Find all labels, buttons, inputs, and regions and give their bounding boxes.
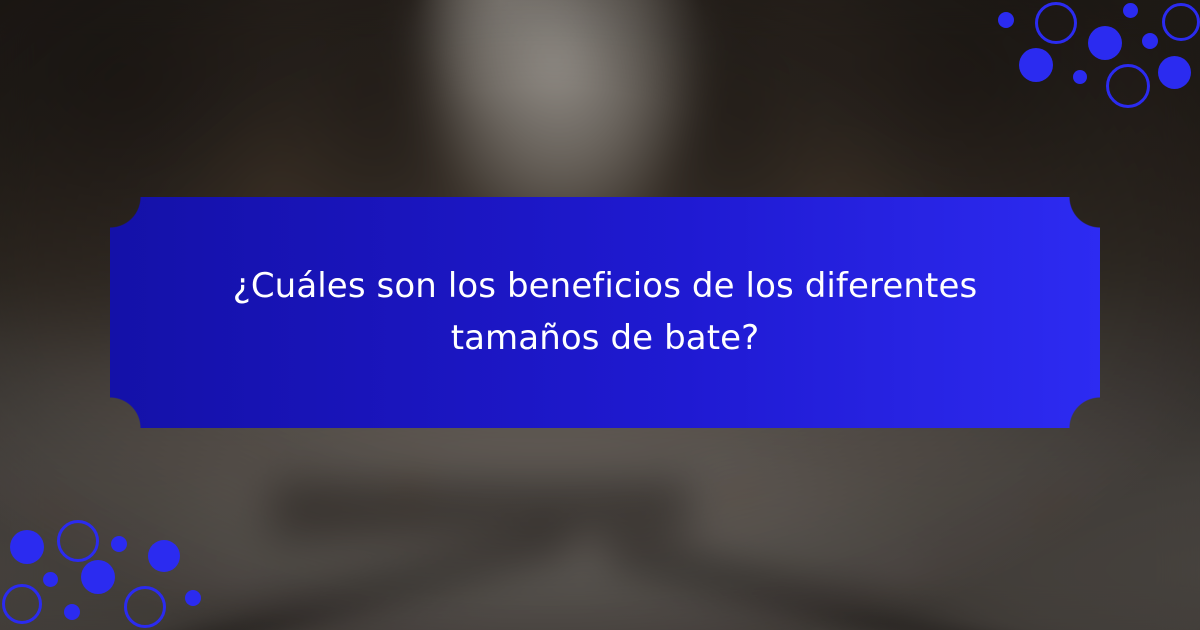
- banner-title: ¿Cuáles son los beneficios de los difere…: [110, 261, 1100, 364]
- decoration-circle-filled: [1142, 33, 1158, 49]
- decoration-circle-filled: [10, 530, 44, 564]
- headline-banner: ¿Cuáles son los beneficios de los difere…: [110, 197, 1100, 428]
- decoration-circle-filled: [1123, 3, 1138, 18]
- decoration-circle-outline: [124, 586, 166, 628]
- decoration-circle-filled: [1073, 70, 1087, 84]
- decoration-circle-filled: [1088, 26, 1122, 60]
- decoration-circle-filled: [64, 604, 80, 620]
- decoration-circle-outline: [57, 520, 99, 562]
- decoration-circle-filled: [148, 540, 180, 572]
- decoration-circle-filled: [1019, 48, 1053, 82]
- decoration-circle-filled: [998, 12, 1014, 28]
- decoration-circle-filled: [185, 590, 201, 606]
- decoration-circle-filled: [111, 536, 127, 552]
- decoration-circle-filled: [1158, 56, 1191, 89]
- decoration-circle-outline: [1035, 2, 1077, 44]
- decoration-circle-outline: [1162, 3, 1200, 41]
- decoration-circle-outline: [1106, 64, 1150, 108]
- decoration-circle-filled: [81, 560, 115, 594]
- decoration-circle-filled: [43, 572, 58, 587]
- decoration-circle-outline: [2, 584, 42, 624]
- social-card: ¿Cuáles son los beneficios de los difere…: [0, 0, 1200, 630]
- decoration-dots-top-right: [980, 0, 1200, 128]
- decoration-dots-bottom-left: [0, 502, 220, 630]
